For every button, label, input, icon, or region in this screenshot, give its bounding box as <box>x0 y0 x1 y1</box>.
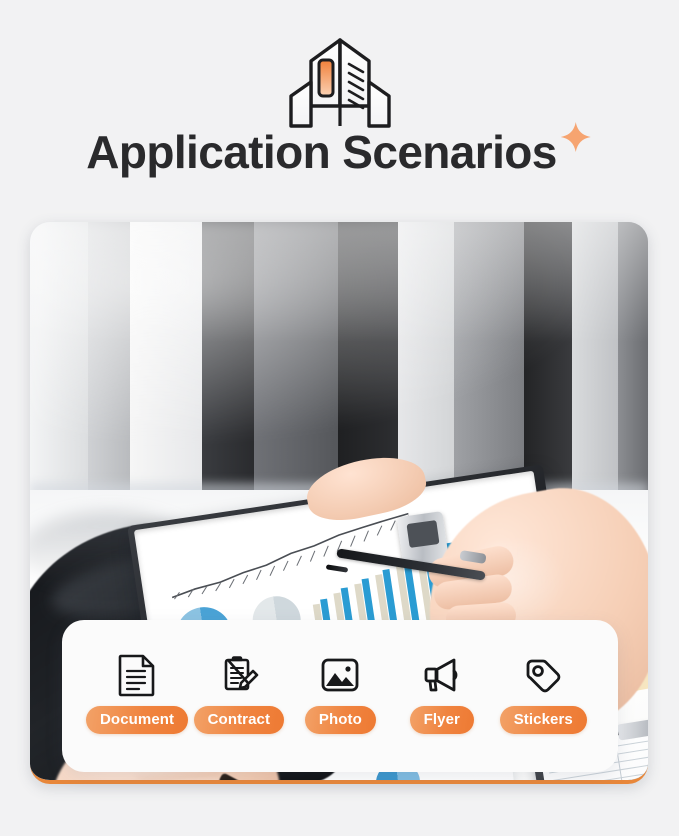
page-title: Application Scenarios <box>86 128 557 176</box>
tag-icon <box>521 652 565 698</box>
building-icon <box>281 34 399 135</box>
contract-icon <box>217 652 261 698</box>
badge-item-document[interactable]: Document <box>86 652 188 734</box>
badge-item-contract[interactable]: Contract <box>188 652 289 734</box>
megaphone-icon <box>420 652 464 698</box>
photo-icon <box>318 652 362 698</box>
badge-label-stickers[interactable]: Stickers <box>500 706 587 734</box>
page-header: Application Scenarios <box>0 0 679 215</box>
scenario-badge-panel: Document Contract <box>62 620 618 772</box>
sparkle-icon <box>559 120 593 159</box>
badge-label-contract[interactable]: Contract <box>194 706 284 734</box>
document-icon <box>117 652 157 698</box>
badge-label-document[interactable]: Document <box>86 706 188 734</box>
badge-item-photo[interactable]: Photo <box>290 652 391 734</box>
title-row: Application Scenarios <box>86 128 593 176</box>
badge-label-flyer[interactable]: Flyer <box>410 706 474 734</box>
badge-label-photo[interactable]: Photo <box>305 706 376 734</box>
badge-item-flyer[interactable]: Flyer <box>391 652 492 734</box>
badge-item-stickers[interactable]: Stickers <box>493 652 594 734</box>
